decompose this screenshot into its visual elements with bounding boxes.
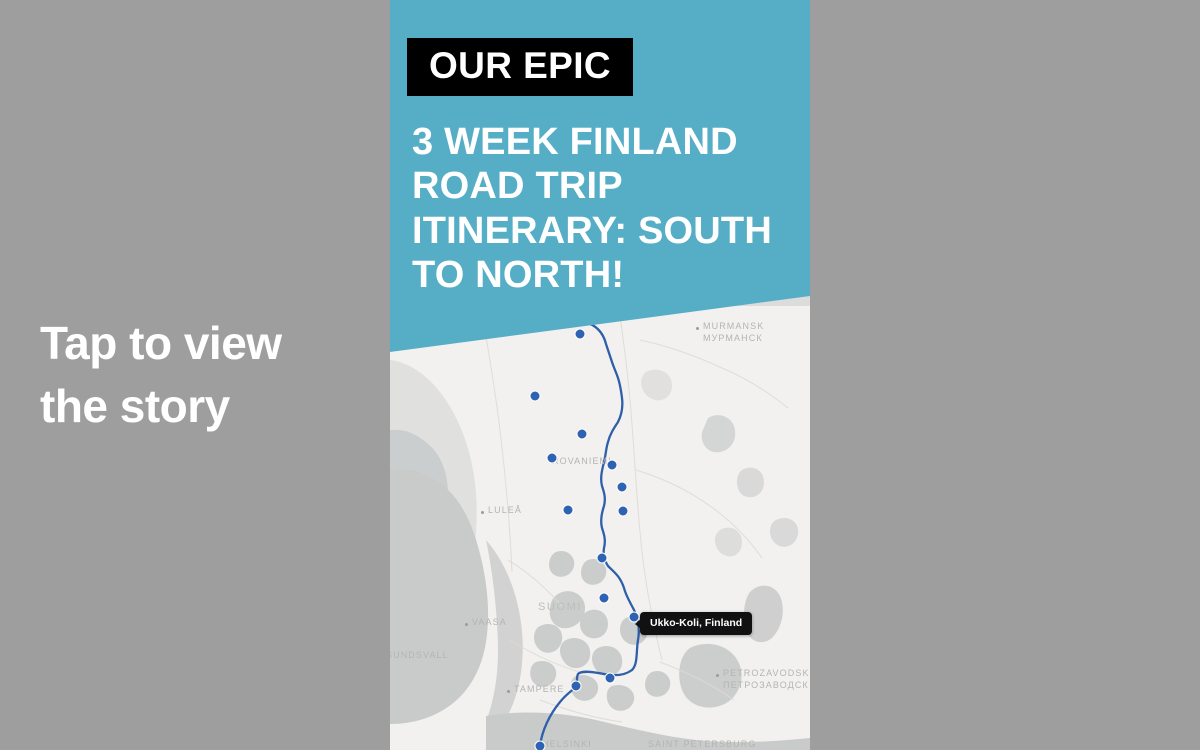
waypoint-dot[interactable] <box>597 553 607 563</box>
story-card[interactable]: MURMANSK МУРМАНСК ROVANIEMI LULEÅ VAASA … <box>390 0 810 750</box>
waypoint-dot[interactable] <box>547 453 557 463</box>
tap-to-view-caption[interactable]: Tap to view the story <box>40 312 370 439</box>
waypoint-dot[interactable] <box>617 482 627 492</box>
waypoint-dot[interactable] <box>577 429 587 439</box>
waypoint-dot[interactable] <box>605 673 615 683</box>
waypoint-dot[interactable] <box>571 681 581 691</box>
waypoint-dot[interactable] <box>607 460 617 470</box>
tooltip-label: Ukko-Koli, Finland <box>650 617 742 629</box>
waypoint-dot[interactable] <box>563 505 573 515</box>
waypoint-dot[interactable] <box>530 391 540 401</box>
eyebrow-badge: OUR EPIC <box>407 38 633 96</box>
eyebrow-label: OUR EPIC <box>429 47 611 84</box>
waypoint-dot[interactable] <box>535 741 545 750</box>
map-tooltip-ukko-koli[interactable]: Ukko-Koli, Finland <box>640 612 752 635</box>
waypoint-dot[interactable] <box>599 593 609 603</box>
waypoint-dot[interactable] <box>575 329 585 339</box>
screenshot-root: Tap to view the story <box>0 0 1200 750</box>
waypoint-dot[interactable] <box>618 506 628 516</box>
story-headline: 3 WEEK FINLAND ROAD TRIP ITINERARY: SOUT… <box>412 120 798 298</box>
